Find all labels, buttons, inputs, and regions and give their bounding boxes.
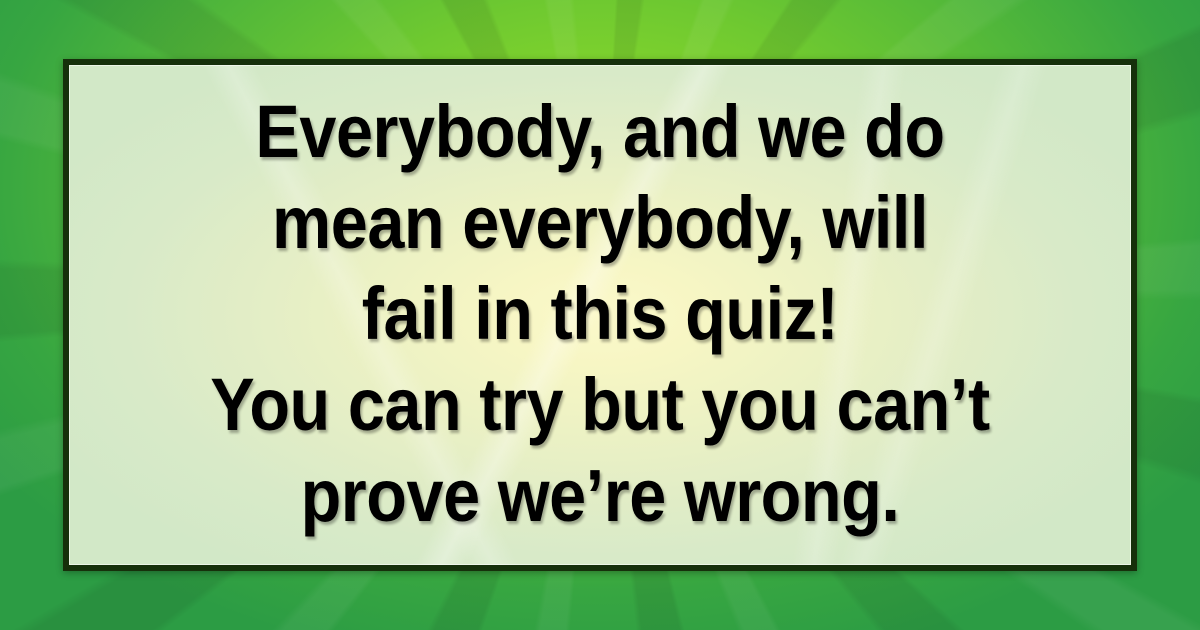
quote-line-2: mean everybody, will — [135, 177, 1066, 268]
quote-text-block: Everybody, and we do mean everybody, wil… — [69, 65, 1131, 565]
quote-poster: Everybody, and we do mean everybody, wil… — [0, 0, 1200, 630]
quote-line-4: You can try but you can’t — [135, 359, 1066, 450]
quote-card: Everybody, and we do mean everybody, wil… — [63, 59, 1137, 571]
quote-line-3: fail in this quiz! — [135, 268, 1066, 359]
quote-line-5: prove we’re wrong. — [135, 450, 1066, 541]
quote-line-1: Everybody, and we do — [135, 86, 1066, 177]
